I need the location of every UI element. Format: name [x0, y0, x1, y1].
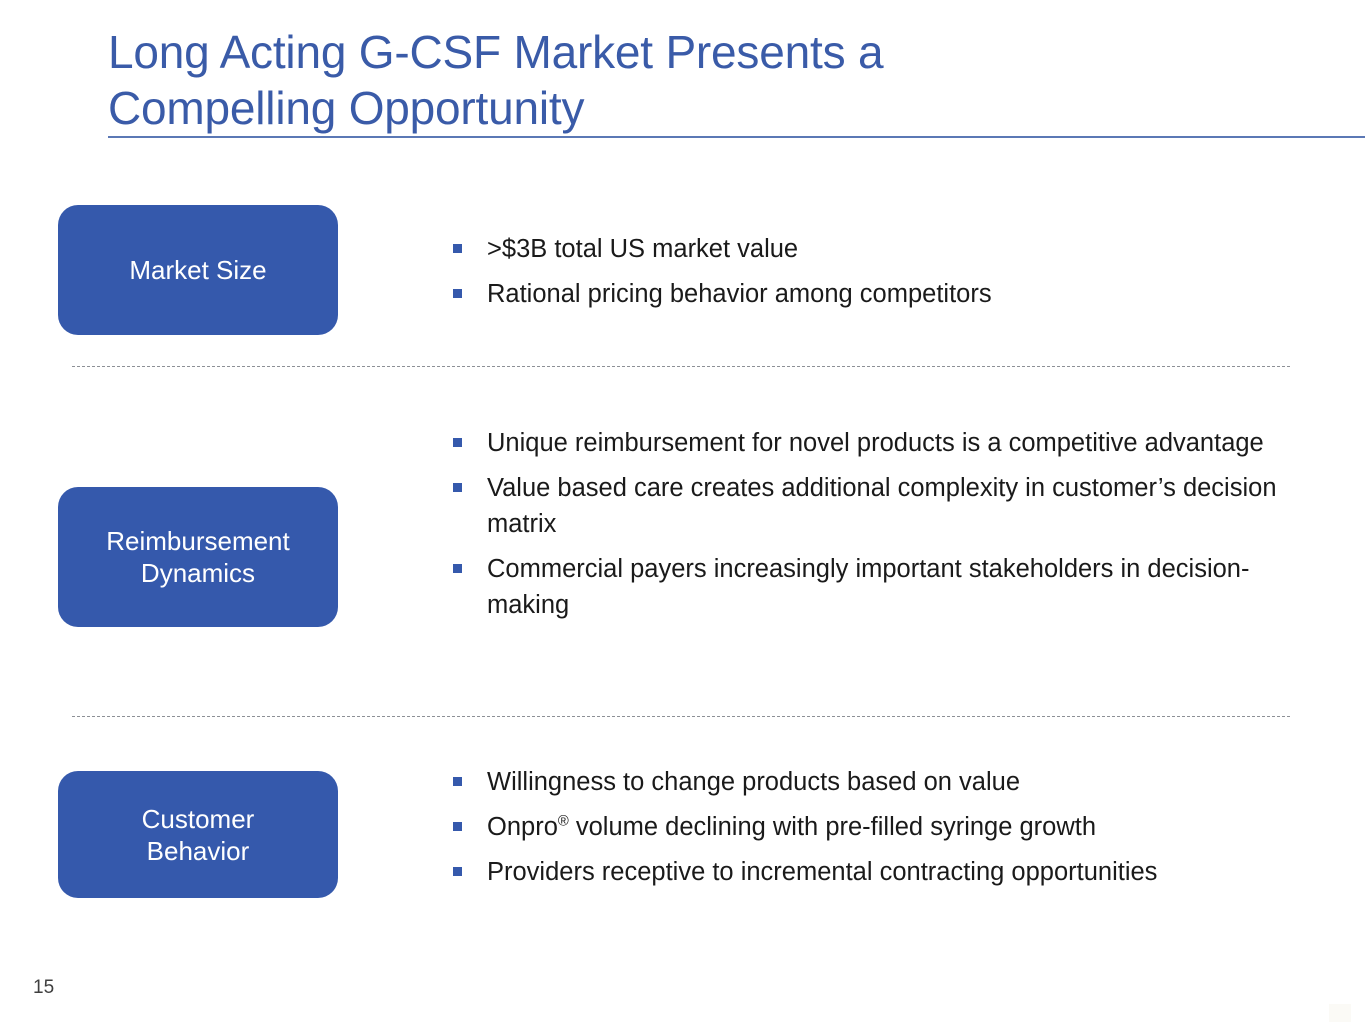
- list-item: Onpro® volume declining with pre-filled …: [450, 809, 1320, 845]
- section-bullet-list: Willingness to change products based on …: [450, 764, 1320, 890]
- list-item: Commercial payers increasingly important…: [450, 551, 1320, 623]
- list-item-text: Value based care creates additional comp…: [487, 474, 1277, 538]
- square-bullet-icon: [453, 438, 462, 447]
- section-divider: [72, 366, 1290, 367]
- section-reimbursement-dynamics: Reimbursement Dynamics Unique reimbursem…: [0, 487, 1365, 627]
- section-label-box: Market Size: [58, 205, 338, 335]
- section-label-box: Reimbursement Dynamics: [58, 487, 338, 627]
- list-item-text: Onpro® volume declining with pre-filled …: [487, 813, 1096, 841]
- square-bullet-icon: [453, 564, 462, 573]
- list-item-text: Unique reimbursement for novel products …: [487, 429, 1264, 457]
- square-bullet-icon: [453, 777, 462, 786]
- square-bullet-icon: [453, 867, 462, 876]
- list-item: Unique reimbursement for novel products …: [450, 425, 1320, 461]
- square-bullet-icon: [453, 289, 462, 298]
- section-bullet-list: >$3B total US market value Rational pric…: [450, 231, 1320, 312]
- list-item-text: Rational pricing behavior among competit…: [487, 280, 992, 308]
- page-title: Long Acting G-CSF Market Presents a Comp…: [108, 24, 1268, 136]
- square-bullet-icon: [453, 483, 462, 492]
- square-bullet-icon: [453, 244, 462, 253]
- list-item: Value based care creates additional comp…: [450, 470, 1320, 542]
- section-divider: [72, 716, 1290, 717]
- list-item-text: >$3B total US market value: [487, 235, 798, 263]
- section-customer-behavior: Customer Behavior Willingness to change …: [0, 771, 1365, 898]
- list-item-text: Providers receptive to incremental contr…: [487, 858, 1157, 886]
- section-bullet-list: Unique reimbursement for novel products …: [450, 425, 1320, 623]
- list-item: Willingness to change products based on …: [450, 764, 1320, 800]
- square-bullet-icon: [453, 822, 462, 831]
- list-item: Rational pricing behavior among competit…: [450, 276, 1320, 312]
- title-underline-rule: [108, 136, 1365, 138]
- section-market-size: Market Size >$3B total US market value R…: [0, 205, 1365, 335]
- list-item: >$3B total US market value: [450, 231, 1320, 267]
- list-item-text: Willingness to change products based on …: [487, 768, 1020, 796]
- list-item: Providers receptive to incremental contr…: [450, 854, 1320, 890]
- section-label-box: Customer Behavior: [58, 771, 338, 898]
- list-item-text: Commercial payers increasingly important…: [487, 555, 1250, 619]
- corner-watermark-icon: [1329, 1004, 1351, 1022]
- page-number: 15: [33, 977, 54, 999]
